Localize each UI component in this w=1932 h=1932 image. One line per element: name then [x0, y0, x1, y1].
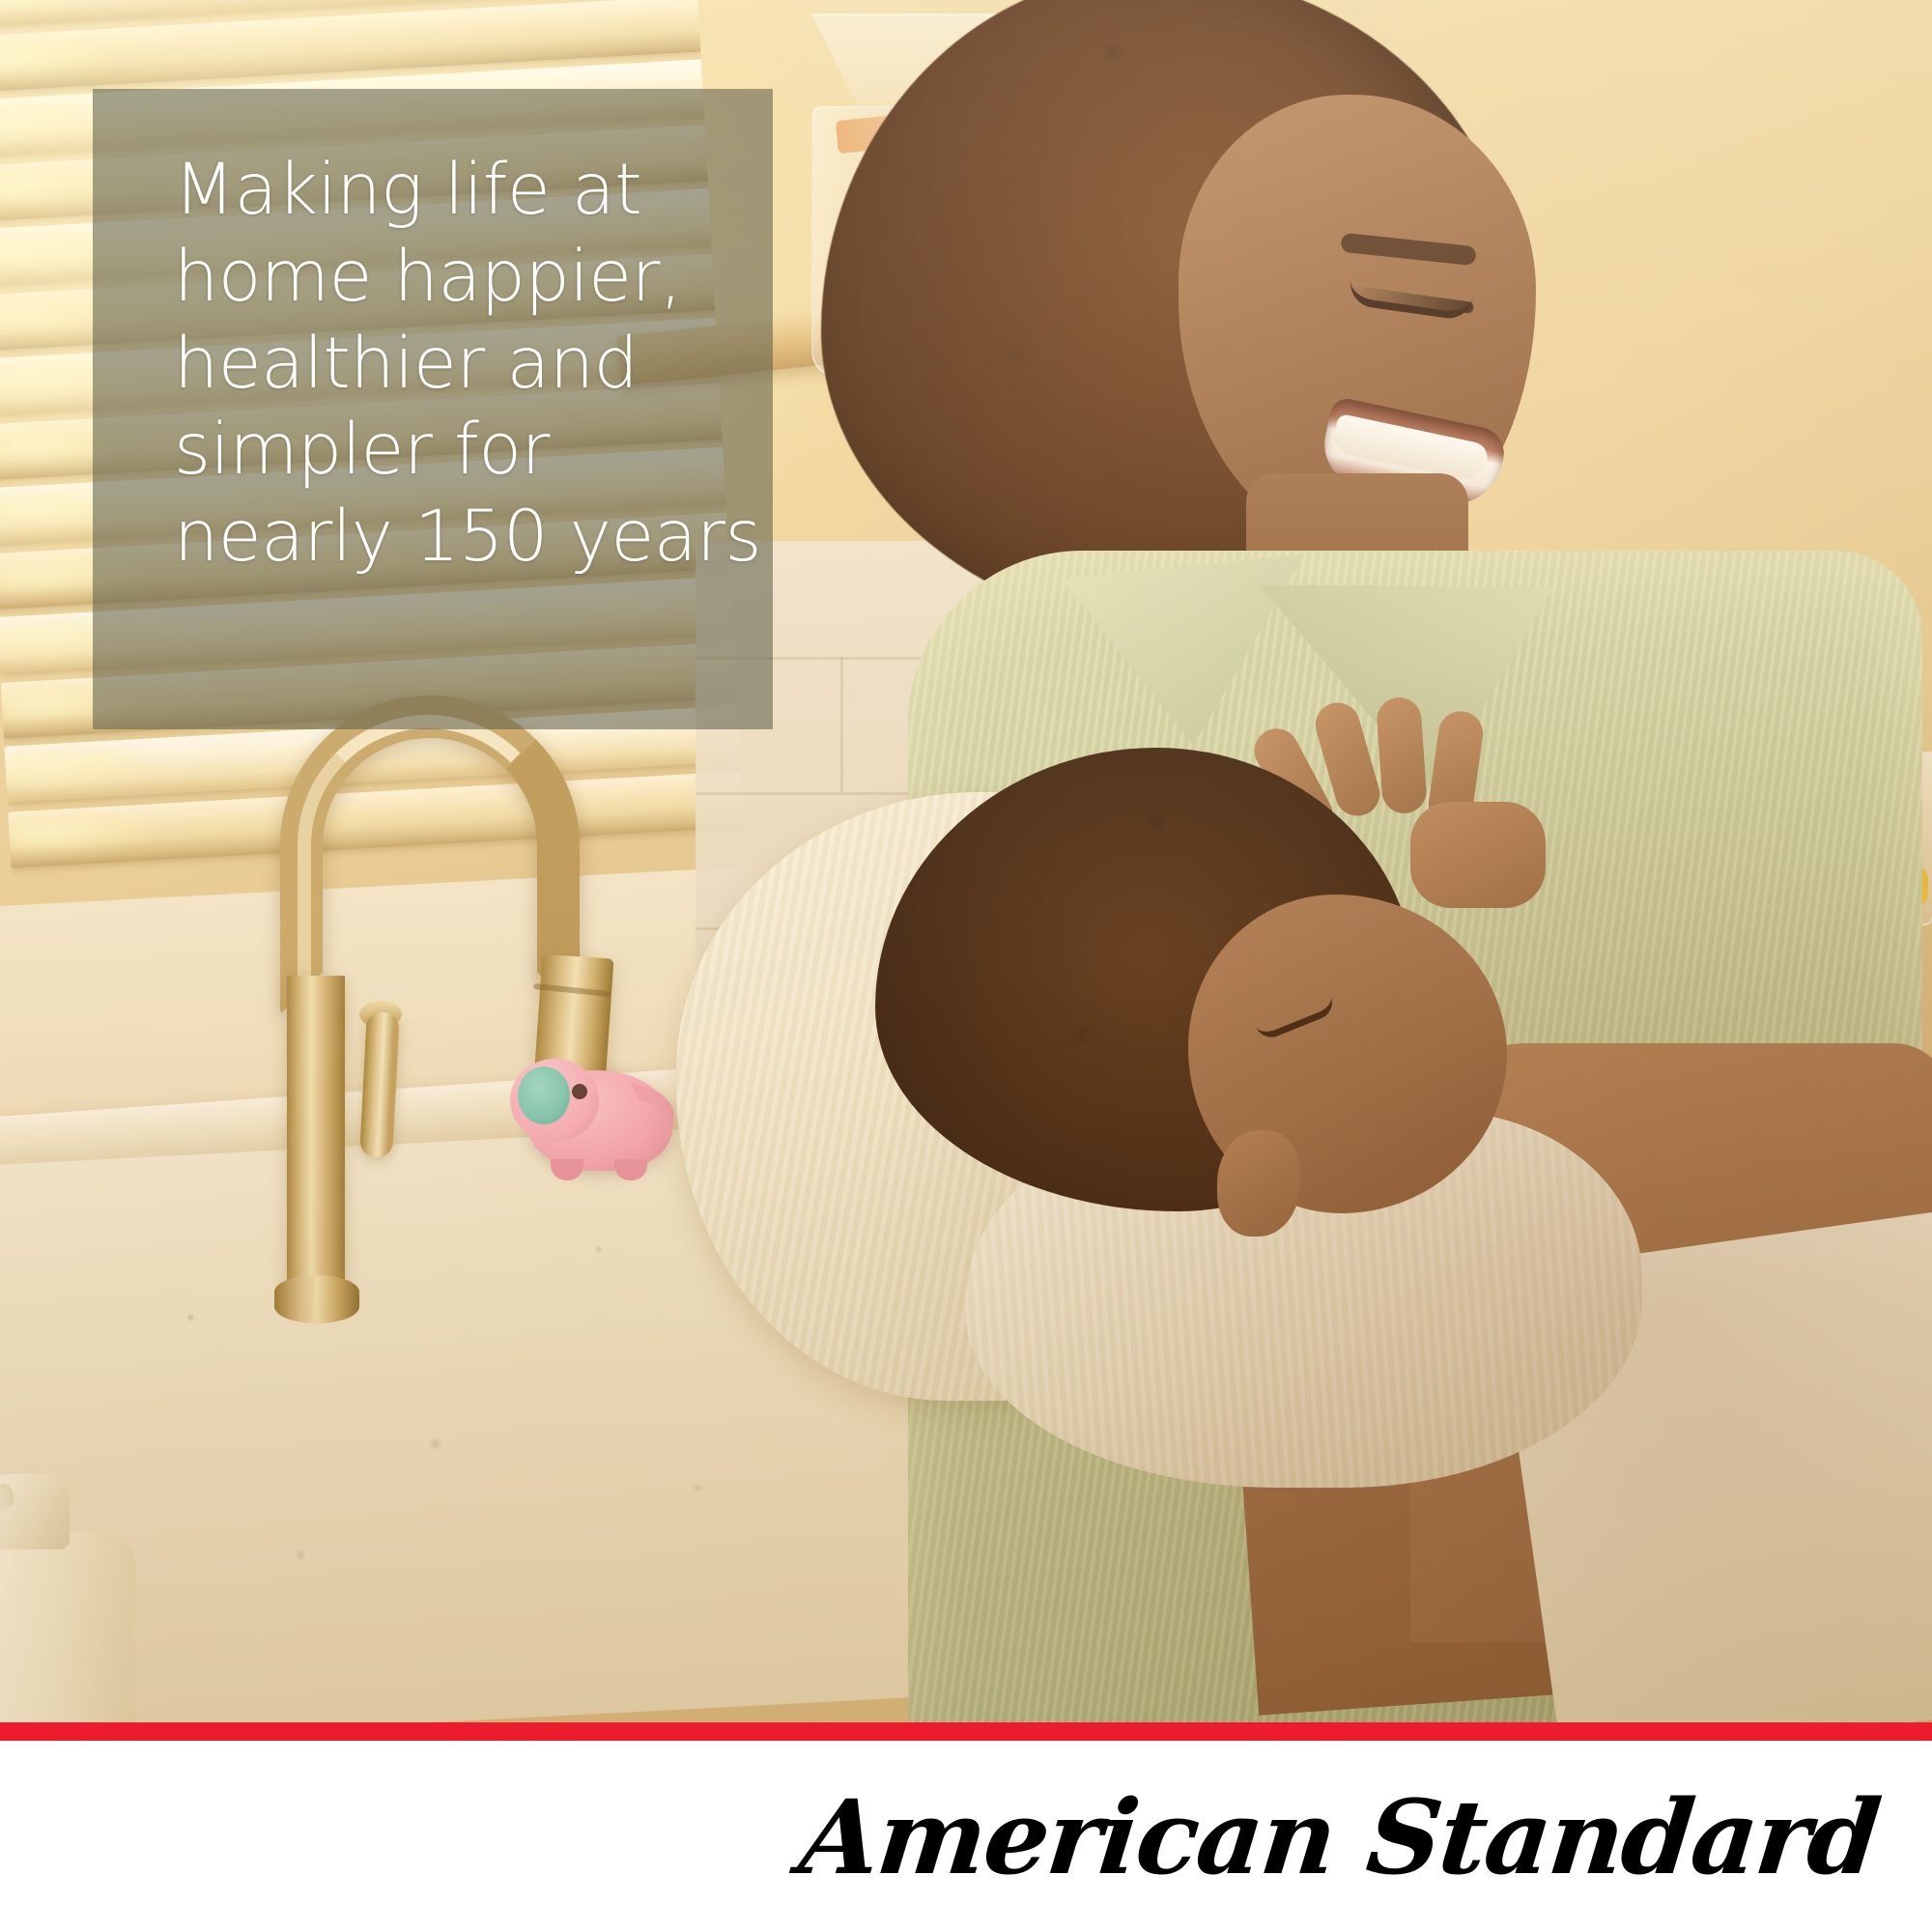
- soap-cap: [0, 1474, 70, 1549]
- headline-overlay-box: Making life at home happier, healthier a…: [93, 89, 773, 729]
- faucet-base: [274, 1275, 359, 1323]
- woman-eyebrow: [1340, 233, 1476, 267]
- soap-bottle: [0, 1532, 135, 1722]
- toy-foot-right: [614, 1159, 647, 1180]
- faucet-highlight: [298, 715, 558, 1005]
- advertisement-root: Making life at home happier, healthier a…: [0, 0, 1932, 1932]
- woman-eye: [1348, 279, 1473, 322]
- toy-eye: [572, 1084, 587, 1099]
- faucet-stem: [287, 976, 345, 1294]
- faucet: [270, 676, 676, 1352]
- footer: American Standard: [0, 1741, 1932, 1932]
- brand-accent-bar: [0, 1722, 1932, 1741]
- toy-foot-left: [551, 1159, 583, 1180]
- baby-ear: [1217, 1130, 1300, 1236]
- elephant-toy: [506, 1045, 686, 1180]
- american-standard-logo: American Standard: [794, 1776, 1932, 1897]
- headline-text: Making life at home happier, healthier a…: [93, 89, 761, 581]
- hero-photo: Making life at home happier, healthier a…: [0, 0, 1932, 1722]
- faucet-handle: [359, 1011, 400, 1158]
- soap-dispenser: [0, 1447, 145, 1722]
- baby: [676, 734, 1932, 1722]
- toy-ear: [518, 1066, 570, 1124]
